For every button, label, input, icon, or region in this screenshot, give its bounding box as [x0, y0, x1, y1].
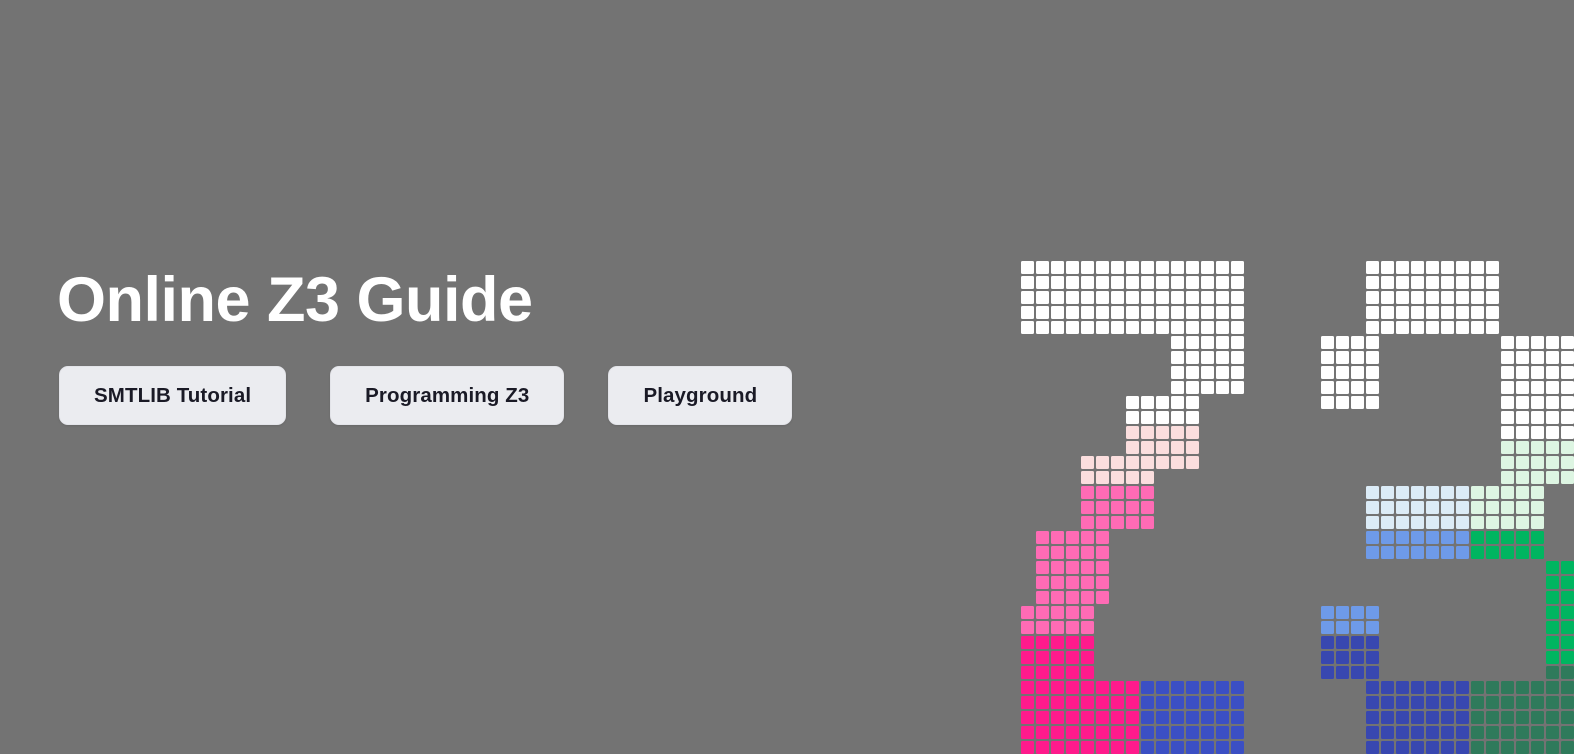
logo-pixel — [1081, 621, 1094, 634]
logo-pixel — [1036, 531, 1049, 544]
logo-pixel — [1081, 576, 1094, 589]
logo-pixel — [1021, 606, 1034, 619]
logo-pixel — [1471, 546, 1484, 559]
logo-pixel — [1441, 516, 1454, 529]
logo-pixel — [1126, 306, 1139, 319]
logo-pixel — [1021, 636, 1034, 649]
logo-pixel — [1201, 741, 1214, 754]
logo-pixel — [1186, 441, 1199, 454]
logo-pixel — [1546, 366, 1559, 379]
logo-pixel — [1141, 411, 1154, 424]
logo-pixel — [1111, 261, 1124, 274]
logo-pixel — [1171, 366, 1184, 379]
logo-pixel — [1336, 636, 1349, 649]
logo-pixel — [1441, 726, 1454, 739]
logo-pixel — [1546, 726, 1559, 739]
logo-pixel — [1531, 681, 1544, 694]
logo-pixel — [1066, 681, 1079, 694]
logo-pixel — [1201, 261, 1214, 274]
logo-pixel — [1561, 606, 1574, 619]
logo-pixel — [1441, 261, 1454, 274]
logo-pixel — [1501, 516, 1514, 529]
logo-pixel — [1351, 651, 1364, 664]
logo-pixel — [1531, 426, 1544, 439]
logo-pixel — [1111, 486, 1124, 499]
logo-pixel — [1501, 351, 1514, 364]
logo-pixel — [1516, 471, 1529, 484]
logo-pixel — [1531, 396, 1544, 409]
logo-pixel — [1171, 291, 1184, 304]
logo-pixel — [1561, 366, 1574, 379]
logo-pixel — [1096, 741, 1109, 754]
logo-pixel — [1186, 726, 1199, 739]
logo-pixel — [1471, 261, 1484, 274]
logo-pixel — [1546, 651, 1559, 664]
logo-pixel — [1471, 486, 1484, 499]
logo-pixel — [1441, 531, 1454, 544]
logo-pixel — [1441, 291, 1454, 304]
logo-pixel — [1546, 621, 1559, 634]
logo-pixel — [1231, 696, 1244, 709]
logo-pixel — [1111, 516, 1124, 529]
logo-pixel — [1396, 516, 1409, 529]
logo-pixel — [1156, 411, 1169, 424]
logo-pixel — [1501, 441, 1514, 454]
logo-pixel — [1216, 381, 1229, 394]
logo-pixel — [1126, 681, 1139, 694]
logo-pixel — [1096, 486, 1109, 499]
logo-pixel — [1351, 396, 1364, 409]
logo-pixel — [1171, 741, 1184, 754]
logo-pixel — [1201, 306, 1214, 319]
logo-pixel — [1231, 351, 1244, 364]
logo-pixel — [1051, 321, 1064, 334]
logo-pixel — [1456, 516, 1469, 529]
logo-pixel — [1351, 666, 1364, 679]
logo-pixel — [1096, 726, 1109, 739]
logo-pixel — [1561, 621, 1574, 634]
logo-pixel — [1396, 306, 1409, 319]
logo-pixel — [1366, 681, 1379, 694]
logo-pixel — [1546, 711, 1559, 724]
logo-pixel — [1531, 456, 1544, 469]
logo-pixel — [1066, 666, 1079, 679]
logo-pixel — [1531, 501, 1544, 514]
logo-pixel — [1366, 666, 1379, 679]
logo-pixel — [1486, 291, 1499, 304]
logo-pixel — [1381, 486, 1394, 499]
logo-pixel — [1471, 681, 1484, 694]
logo-pixel — [1231, 306, 1244, 319]
logo-pixel — [1021, 261, 1034, 274]
logo-pixel — [1111, 741, 1124, 754]
logo-pixel — [1171, 696, 1184, 709]
logo-pixel — [1021, 681, 1034, 694]
logo-pixel — [1021, 696, 1034, 709]
logo-pixel — [1546, 666, 1559, 679]
logo-pixel — [1216, 726, 1229, 739]
logo-pixel — [1231, 726, 1244, 739]
logo-pixel — [1516, 486, 1529, 499]
logo-pixel — [1081, 546, 1094, 559]
hero-section: Online Z3 Guide SMTLIB Tutorial Programm… — [0, 0, 1000, 742]
logo-pixel — [1396, 501, 1409, 514]
logo-pixel — [1111, 456, 1124, 469]
logo-pixel — [1156, 396, 1169, 409]
logo-pixel — [1411, 726, 1424, 739]
logo-pixel — [1171, 426, 1184, 439]
logo-pixel — [1441, 696, 1454, 709]
logo-pixel — [1561, 591, 1574, 604]
logo-pixel — [1531, 486, 1544, 499]
logo-pixel — [1141, 711, 1154, 724]
logo-pixel — [1411, 681, 1424, 694]
logo-pixel — [1171, 351, 1184, 364]
logo-pixel — [1396, 261, 1409, 274]
logo-pixel — [1216, 291, 1229, 304]
logo-pixel — [1141, 501, 1154, 514]
logo-pixel — [1051, 636, 1064, 649]
logo-pixel — [1141, 276, 1154, 289]
logo-pixel — [1021, 711, 1034, 724]
logo-pixel — [1561, 696, 1574, 709]
logo-pixel — [1111, 501, 1124, 514]
logo-pixel — [1561, 396, 1574, 409]
logo-pixel — [1081, 561, 1094, 574]
logo-pixel — [1231, 336, 1244, 349]
logo-pixel — [1036, 591, 1049, 604]
logo-pixel — [1066, 291, 1079, 304]
logo-pixel — [1516, 516, 1529, 529]
logo-pixel — [1561, 711, 1574, 724]
logo-pixel — [1201, 291, 1214, 304]
logo-pixel — [1321, 366, 1334, 379]
logo-pixel — [1426, 711, 1439, 724]
logo-pixel — [1471, 516, 1484, 529]
logo-pixel — [1516, 351, 1529, 364]
logo-pixel — [1411, 486, 1424, 499]
logo-pixel — [1531, 471, 1544, 484]
logo-pixel — [1036, 261, 1049, 274]
logo-pixel — [1231, 261, 1244, 274]
logo-pixel — [1366, 276, 1379, 289]
logo-pixel — [1366, 366, 1379, 379]
logo-pixel — [1531, 726, 1544, 739]
logo-pixel — [1171, 321, 1184, 334]
logo-pixel — [1096, 276, 1109, 289]
logo-pixel — [1561, 741, 1574, 754]
logo-pixel — [1171, 396, 1184, 409]
logo-pixel — [1531, 516, 1544, 529]
logo-pixel — [1201, 681, 1214, 694]
logo-pixel — [1081, 516, 1094, 529]
logo-pixel — [1366, 291, 1379, 304]
logo-pixel — [1066, 321, 1079, 334]
logo-pixel — [1126, 471, 1139, 484]
logo-pixel — [1501, 711, 1514, 724]
logo-pixel — [1201, 726, 1214, 739]
logo-pixel — [1471, 726, 1484, 739]
playground-button[interactable]: Playground — [608, 366, 792, 425]
logo-pixel — [1231, 291, 1244, 304]
logo-pixel — [1096, 306, 1109, 319]
logo-pixel — [1366, 531, 1379, 544]
logo-pixel — [1471, 276, 1484, 289]
logo-pixel — [1561, 576, 1574, 589]
logo-pixel — [1081, 471, 1094, 484]
logo-pixel — [1066, 711, 1079, 724]
logo-pixel — [1396, 681, 1409, 694]
nav-button-group: SMTLIB Tutorial Programming Z3 Playgroun… — [59, 366, 792, 425]
logo-pixel — [1456, 531, 1469, 544]
logo-pixel — [1516, 411, 1529, 424]
logo-pixel — [1546, 456, 1559, 469]
logo-pixel — [1546, 471, 1559, 484]
logo-pixel — [1036, 651, 1049, 664]
logo-pixel — [1096, 456, 1109, 469]
logo-pixel — [1486, 486, 1499, 499]
logo-pixel — [1396, 531, 1409, 544]
logo-pixel — [1471, 306, 1484, 319]
logo-pixel — [1441, 681, 1454, 694]
logo-pixel — [1561, 561, 1574, 574]
logo-pixel — [1186, 681, 1199, 694]
logo-pixel — [1126, 696, 1139, 709]
logo-pixel — [1411, 306, 1424, 319]
logo-pixel — [1231, 741, 1244, 754]
logo-pixel — [1381, 516, 1394, 529]
logo-pixel — [1216, 321, 1229, 334]
logo-pixel — [1426, 696, 1439, 709]
logo-pixel — [1066, 651, 1079, 664]
logo-pixel — [1066, 531, 1079, 544]
logo-pixel — [1021, 621, 1034, 634]
logo-pixel — [1186, 336, 1199, 349]
logo-pixel — [1501, 336, 1514, 349]
logo-pixel — [1036, 276, 1049, 289]
logo-pixel — [1456, 486, 1469, 499]
logo-pixel — [1546, 576, 1559, 589]
logo-pixel — [1201, 381, 1214, 394]
logo-pixel — [1486, 726, 1499, 739]
logo-pixel — [1096, 561, 1109, 574]
logo-pixel — [1081, 306, 1094, 319]
logo-pixel — [1516, 696, 1529, 709]
logo-pixel — [1021, 291, 1034, 304]
logo-pixel — [1546, 681, 1559, 694]
logo-pixel — [1351, 351, 1364, 364]
logo-pixel — [1036, 306, 1049, 319]
logo-pixel — [1471, 741, 1484, 754]
logo-pixel — [1336, 381, 1349, 394]
logo-pixel — [1321, 396, 1334, 409]
logo-pixel — [1066, 276, 1079, 289]
page-title: Online Z3 Guide — [57, 262, 533, 338]
logo-pixel — [1036, 576, 1049, 589]
logo-pixel — [1216, 336, 1229, 349]
logo-pixel — [1081, 291, 1094, 304]
logo-pixel — [1396, 486, 1409, 499]
logo-pixel — [1531, 366, 1544, 379]
logo-pixel — [1021, 276, 1034, 289]
logo-pixel — [1081, 741, 1094, 754]
logo-pixel — [1066, 306, 1079, 319]
logo-pixel — [1231, 321, 1244, 334]
logo-pixel — [1516, 336, 1529, 349]
logo-pixel — [1111, 291, 1124, 304]
logo-pixel — [1096, 591, 1109, 604]
logo-pixel — [1036, 711, 1049, 724]
logo-pixel — [1351, 636, 1364, 649]
logo-pixel — [1411, 501, 1424, 514]
logo-pixel — [1546, 591, 1559, 604]
logo-pixel — [1096, 291, 1109, 304]
logo-pixel — [1081, 321, 1094, 334]
logo-pixel — [1036, 321, 1049, 334]
logo-pixel — [1531, 546, 1544, 559]
logo-pixel — [1231, 381, 1244, 394]
logo-pixel — [1426, 681, 1439, 694]
logo-pixel — [1396, 291, 1409, 304]
logo-pixel — [1096, 711, 1109, 724]
logo-pixel — [1156, 291, 1169, 304]
logo-pixel — [1411, 546, 1424, 559]
logo-pixel — [1141, 441, 1154, 454]
logo-pixel — [1426, 321, 1439, 334]
logo-pixel — [1141, 486, 1154, 499]
logo-pixel — [1336, 396, 1349, 409]
logo-pixel — [1531, 351, 1544, 364]
logo-pixel — [1156, 696, 1169, 709]
logo-pixel — [1126, 441, 1139, 454]
logo-pixel — [1426, 546, 1439, 559]
logo-pixel — [1501, 396, 1514, 409]
logo-pixel — [1411, 711, 1424, 724]
logo-pixel — [1321, 651, 1334, 664]
logo-pixel — [1126, 411, 1139, 424]
logo-pixel — [1561, 351, 1574, 364]
logo-pixel — [1546, 561, 1559, 574]
logo-pixel — [1561, 681, 1574, 694]
programming-z3-button[interactable]: Programming Z3 — [330, 366, 564, 425]
logo-pixel — [1441, 711, 1454, 724]
logo-pixel — [1351, 366, 1364, 379]
logo-pixel — [1531, 381, 1544, 394]
logo-pixel — [1486, 261, 1499, 274]
logo-pixel — [1366, 621, 1379, 634]
logo-pixel — [1066, 606, 1079, 619]
logo-pixel — [1156, 681, 1169, 694]
logo-pixel — [1096, 696, 1109, 709]
logo-pixel — [1051, 606, 1064, 619]
logo-pixel — [1366, 696, 1379, 709]
logo-pixel — [1336, 366, 1349, 379]
logo-pixel — [1381, 681, 1394, 694]
logo-pixel — [1081, 711, 1094, 724]
logo-pixel — [1411, 531, 1424, 544]
smtlib-tutorial-button[interactable]: SMTLIB Tutorial — [59, 366, 286, 425]
logo-pixel — [1141, 516, 1154, 529]
logo-pixel — [1456, 681, 1469, 694]
logo-pixel — [1081, 681, 1094, 694]
logo-pixel — [1561, 651, 1574, 664]
logo-pixel — [1126, 501, 1139, 514]
logo-pixel — [1381, 501, 1394, 514]
logo-pixel — [1231, 276, 1244, 289]
logo-pixel — [1561, 471, 1574, 484]
logo-pixel — [1051, 741, 1064, 754]
logo-pixel — [1066, 696, 1079, 709]
logo-pixel — [1096, 576, 1109, 589]
logo-pixel — [1171, 411, 1184, 424]
logo-pixel — [1441, 321, 1454, 334]
logo-pixel — [1126, 261, 1139, 274]
logo-pixel — [1366, 651, 1379, 664]
logo-pixel — [1411, 291, 1424, 304]
logo-pixel — [1441, 486, 1454, 499]
logo-pixel — [1366, 711, 1379, 724]
logo-pixel — [1021, 726, 1034, 739]
logo-pixel — [1516, 741, 1529, 754]
logo-pixel — [1141, 471, 1154, 484]
logo-pixel — [1321, 336, 1334, 349]
logo-pixel — [1366, 546, 1379, 559]
logo-pixel — [1066, 576, 1079, 589]
logo-pixel — [1036, 666, 1049, 679]
logo-pixel — [1036, 741, 1049, 754]
logo-pixel — [1471, 711, 1484, 724]
logo-pixel — [1186, 411, 1199, 424]
logo-pixel — [1156, 276, 1169, 289]
logo-pixel — [1066, 621, 1079, 634]
logo-pixel — [1426, 291, 1439, 304]
logo-pixel — [1171, 726, 1184, 739]
logo-pixel — [1411, 276, 1424, 289]
logo-pixel — [1456, 726, 1469, 739]
logo-pixel — [1366, 351, 1379, 364]
logo-pixel — [1081, 591, 1094, 604]
logo-pixel — [1381, 261, 1394, 274]
logo-pixel — [1111, 696, 1124, 709]
logo-pixel — [1051, 276, 1064, 289]
logo-pixel — [1456, 741, 1469, 754]
logo-pixel — [1141, 321, 1154, 334]
logo-pixel — [1366, 516, 1379, 529]
logo-pixel — [1471, 531, 1484, 544]
logo-pixel — [1126, 456, 1139, 469]
logo-pixel — [1216, 351, 1229, 364]
logo-pixel — [1531, 336, 1544, 349]
logo-pixel — [1441, 741, 1454, 754]
logo-pixel — [1531, 441, 1544, 454]
logo-pixel — [1501, 486, 1514, 499]
logo-pixel — [1156, 711, 1169, 724]
logo-pixel — [1141, 426, 1154, 439]
logo-pixel — [1201, 336, 1214, 349]
logo-pixel — [1336, 351, 1349, 364]
logo-pixel — [1141, 261, 1154, 274]
logo-pixel — [1186, 381, 1199, 394]
logo-pixel — [1381, 306, 1394, 319]
logo-pixel — [1366, 606, 1379, 619]
logo-pixel — [1321, 636, 1334, 649]
logo-pixel — [1081, 606, 1094, 619]
logo-pixel — [1111, 726, 1124, 739]
logo-pixel — [1171, 336, 1184, 349]
logo-pixel — [1366, 306, 1379, 319]
logo-pixel — [1501, 726, 1514, 739]
logo-pixel — [1021, 741, 1034, 754]
